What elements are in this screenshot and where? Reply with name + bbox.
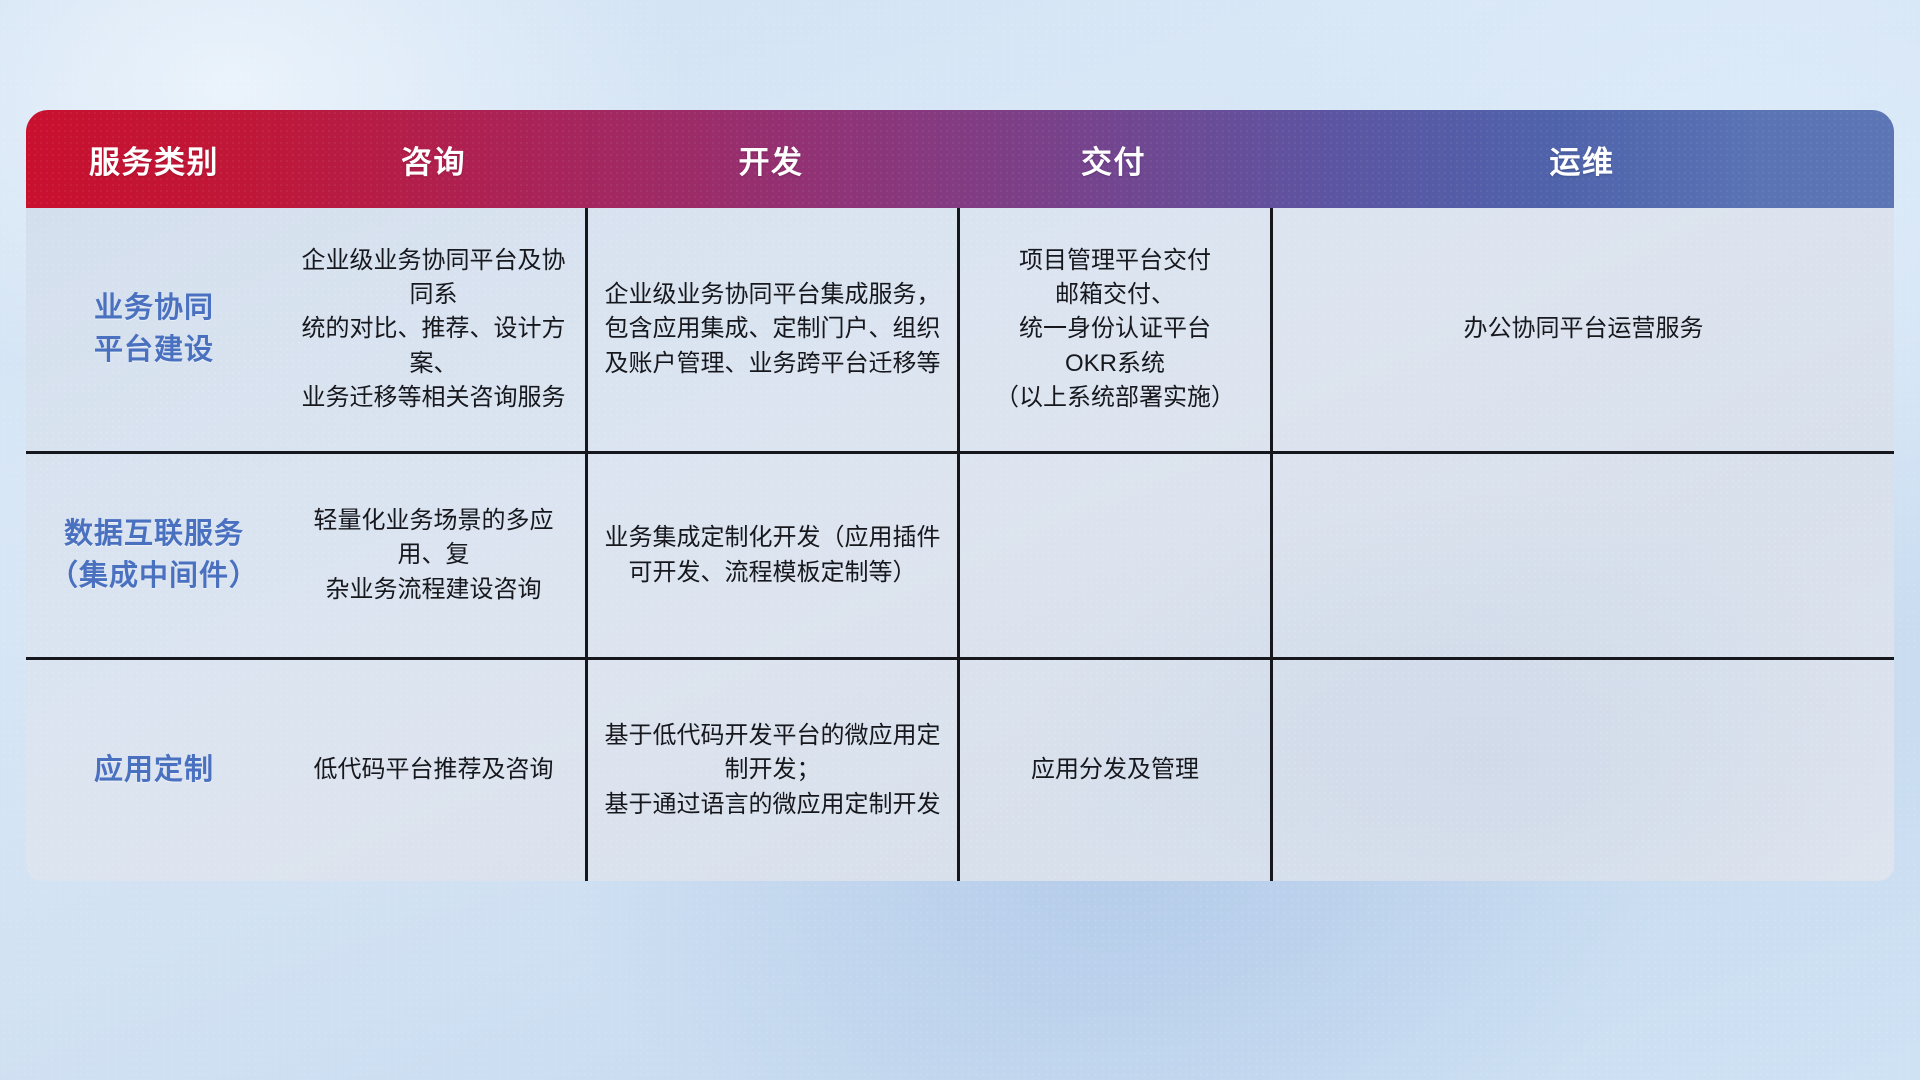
table-header-row: 服务类别 咨询 开发 交付 运维 [26,110,1894,208]
row-category-label: 数据互联服务 （集成中间件） [26,454,282,657]
column-header-operate: 运维 [1270,137,1894,182]
cell-develop: 基于低代码开发平台的微应用定 制开发； 基于通过语言的微应用定制开发 [585,660,957,881]
column-header-develop: 开发 [585,137,957,182]
table-body: 业务协同 平台建设 企业级业务协同平台及协同系 统的对比、推荐、设计方案、 业务… [26,208,1894,881]
cell-deliver [957,454,1270,657]
table-row: 应用定制 低代码平台推荐及咨询 基于低代码开发平台的微应用定 制开发； 基于通过… [26,657,1894,881]
row-category-label: 应用定制 [26,660,282,881]
cell-develop: 业务集成定制化开发（应用插件 可开发、流程模板定制等） [585,454,957,657]
cell-deliver: 应用分发及管理 [957,660,1270,881]
cell-consult: 低代码平台推荐及咨询 [282,660,585,881]
table-row: 业务协同 平台建设 企业级业务协同平台及协同系 统的对比、推荐、设计方案、 业务… [26,208,1894,451]
column-header-consult: 咨询 [282,137,585,182]
cell-operate [1270,454,1894,657]
row-category-label: 业务协同 平台建设 [26,208,282,451]
cell-operate [1270,660,1894,881]
service-category-table: 服务类别 咨询 开发 交付 运维 业务协同 平台建设 企业级业务协同平台及协同系… [26,110,1894,881]
cell-consult: 企业级业务协同平台及协同系 统的对比、推荐、设计方案、 业务迁移等相关咨询服务 [282,208,585,451]
cell-deliver: 项目管理平台交付 邮箱交付、 统一身份认证平台 OKR系统 （以上系统部署实施） [957,208,1270,451]
column-header-category: 服务类别 [26,137,282,182]
cell-develop: 企业级业务协同平台集成服务， 包含应用集成、定制门户、组织 及账户管理、业务跨平… [585,208,957,451]
cell-operate: 办公协同平台运营服务 [1270,208,1894,451]
cell-consult: 轻量化业务场景的多应用、复 杂业务流程建设咨询 [282,454,585,657]
column-header-deliver: 交付 [957,137,1270,182]
table-row: 数据互联服务 （集成中间件） 轻量化业务场景的多应用、复 杂业务流程建设咨询 业… [26,451,1894,657]
